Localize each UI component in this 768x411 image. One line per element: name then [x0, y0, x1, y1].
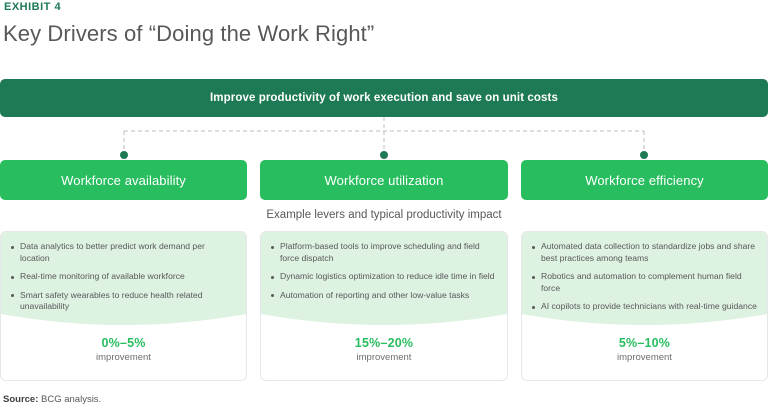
lever-card-workforce-availability: Data analytics to better predict work de… [0, 231, 247, 381]
lever-card-workforce-efficiency: Automated data collection to standardize… [521, 231, 768, 381]
impact-caption: improvement [522, 352, 767, 363]
impact-caption: improvement [261, 352, 507, 363]
lever-list: Automated data collection to standardize… [522, 232, 767, 320]
pillar-bar-workforce-efficiency[interactable]: Workforce efficiency [521, 160, 768, 200]
impact-footer: 5%–10% improvement [522, 336, 767, 363]
list-item: Automated data collection to standardize… [531, 241, 757, 264]
source-label: Source: [3, 394, 38, 405]
top-objective-banner: Improve productivity of work execution a… [0, 79, 768, 117]
exhibit-page: EXHIBIT 4 Key Drivers of “Doing the Work… [0, 0, 768, 411]
impact-value: 15%–20% [261, 336, 507, 350]
impact-value: 0%–5% [1, 336, 246, 350]
pillar-title: Workforce efficiency [585, 173, 704, 188]
lever-list: Data analytics to better predict work de… [1, 232, 246, 320]
connector-dot-3 [640, 151, 648, 159]
list-item: Automation of reporting and other low-va… [270, 290, 497, 302]
impact-value: 5%–10% [522, 336, 767, 350]
lever-panel: Automated data collection to standardize… [522, 232, 767, 328]
source-note: Source: BCG analysis. [3, 394, 101, 405]
list-item: Real-time monitoring of available workfo… [10, 271, 236, 283]
list-item: Smart safety wearables to reduce health … [10, 290, 236, 313]
page-title: Key Drivers of “Doing the Work Right” [3, 21, 374, 47]
impact-caption: improvement [1, 352, 246, 363]
source-text: BCG analysis. [38, 394, 101, 405]
exhibit-label: EXHIBIT 4 [4, 1, 61, 13]
connector-dot-2 [380, 151, 388, 159]
pillar-title: Workforce availability [61, 173, 186, 188]
connector-diagram [0, 117, 768, 162]
lever-panel: Platform-based tools to improve scheduli… [261, 232, 507, 328]
list-item: Platform-based tools to improve scheduli… [270, 241, 497, 264]
list-item: Data analytics to better predict work de… [10, 241, 236, 264]
list-item: Robotics and automation to complement hu… [531, 271, 757, 294]
lever-card-workforce-utilization: Platform-based tools to improve scheduli… [260, 231, 508, 381]
banner-text: Improve productivity of work execution a… [210, 92, 558, 104]
pillar-title: Workforce utilization [325, 173, 444, 188]
lever-list: Platform-based tools to improve scheduli… [261, 232, 507, 308]
pillar-bar-workforce-availability[interactable]: Workforce availability [0, 160, 247, 200]
list-item: AI copilots to provide technicians with … [531, 301, 757, 313]
levers-subtitle: Example levers and typical productivity … [0, 209, 768, 221]
pillar-bar-workforce-utilization[interactable]: Workforce utilization [260, 160, 508, 200]
impact-footer: 0%–5% improvement [1, 336, 246, 363]
lever-panel: Data analytics to better predict work de… [1, 232, 246, 328]
connector-dot-1 [120, 151, 128, 159]
impact-footer: 15%–20% improvement [261, 336, 507, 363]
list-item: Dynamic logistics optimization to reduce… [270, 271, 497, 283]
